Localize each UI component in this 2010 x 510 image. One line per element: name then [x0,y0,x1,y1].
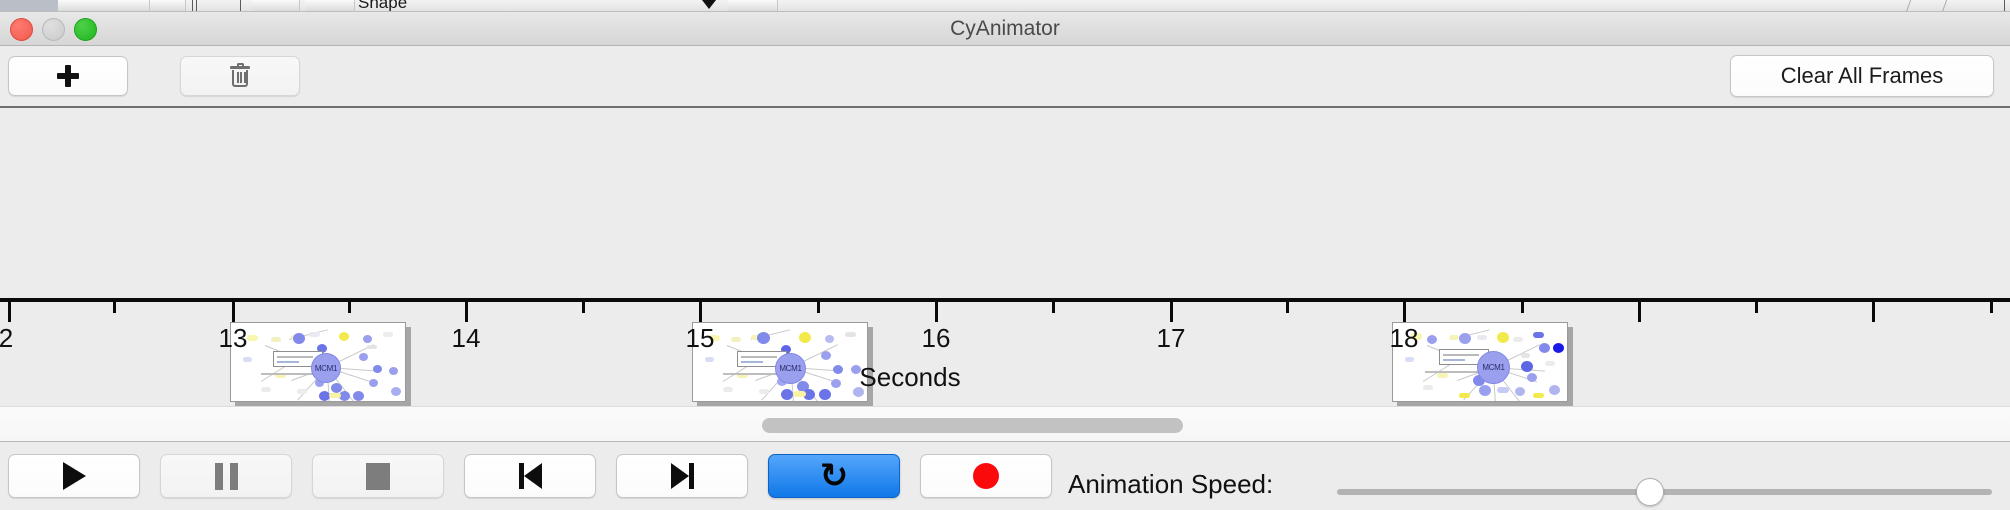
maximize-icon[interactable] [74,18,97,41]
axis-tick-major [935,302,938,322]
axis-tick-major [699,302,702,322]
axis-tick-major [465,302,468,322]
axis-tick-label: 2 [0,323,13,354]
play-button[interactable] [8,454,140,498]
axis-tick-major [1170,302,1173,322]
next-frame-button[interactable] [616,454,748,498]
background-window-label: Shape [358,0,407,12]
axis-tick-major [1403,302,1406,322]
window-titlebar: CyAnimator [0,12,2010,46]
axis-tick-label: 15 [686,323,715,354]
axis-tick-major [1872,302,1875,322]
animation-speed-label: Animation Speed: [1068,469,1273,500]
clear-all-frames-label: Clear All Frames [1781,63,1944,89]
record-button[interactable] [920,454,1052,498]
pause-button[interactable] [160,454,292,498]
toolbar: Clear All Frames [0,46,2010,108]
axis-tick-label: 13 [219,323,248,354]
skip-forward-icon [671,463,694,489]
stop-icon [366,463,390,490]
axis-tick-major [8,302,11,322]
transport-bar: ↻ Animation Speed: [0,443,2010,510]
loop-icon: ↻ [820,461,849,491]
axis-tick-minor [1286,302,1289,313]
axis-tick-major [232,302,235,322]
add-frame-button[interactable] [8,56,128,96]
axis-tick-major [1638,302,1641,322]
axis-tick-minor [113,302,116,313]
plus-icon [57,65,79,87]
horizontal-scrollbar[interactable] [0,406,2010,442]
delete-frame-button[interactable] [180,56,300,96]
animation-speed-slider[interactable] [1337,489,1992,495]
axis-tick-label: 18 [1390,323,1419,354]
stop-button[interactable] [312,454,444,498]
timeline-axis [0,298,2010,302]
record-icon [973,463,999,489]
scrollbar-thumb[interactable] [762,418,1183,433]
axis-tick-label: 16 [922,323,951,354]
axis-tick-label: 17 [1157,323,1186,354]
loop-button[interactable]: ↻ [768,454,900,498]
clear-all-frames-button[interactable]: Clear All Frames [1730,55,1994,97]
axis-tick-minor [1052,302,1055,313]
background-window-strip: Shape [0,0,2010,12]
axis-tick-minor [817,302,820,313]
axis-tick-minor [1521,302,1524,313]
trash-icon [230,64,250,88]
axis-tick-minor [1990,302,1993,313]
minimize-icon[interactable] [42,18,65,41]
animation-speed-slider-thumb[interactable] [1636,478,1664,506]
pause-icon [215,463,238,490]
previous-frame-button[interactable] [464,454,596,498]
close-icon[interactable] [10,18,33,41]
play-icon [63,462,86,490]
page-title: CyAnimator [950,17,1060,41]
axis-title-text: Seconds [859,362,960,392]
timeline-panel[interactable]: MCM1 [0,110,2010,406]
skip-back-icon [519,463,542,489]
axis-tick-label: 14 [452,323,481,354]
axis-title: Seconds [0,362,2010,393]
axis-tick-minor [348,302,351,313]
axis-tick-minor [1755,302,1758,313]
axis-tick-minor [582,302,585,313]
window-controls [10,12,97,46]
